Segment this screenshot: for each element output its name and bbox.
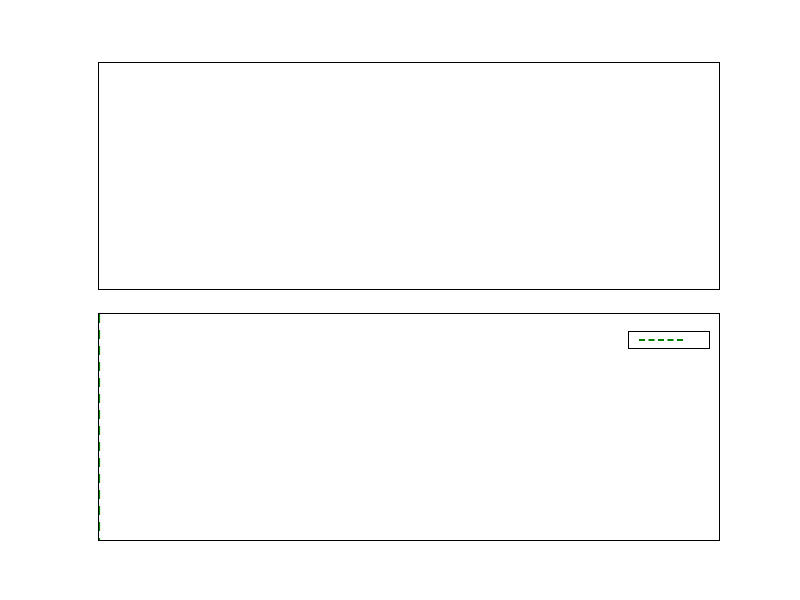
histogram-bars-area [99, 63, 719, 289]
cumulative-curve [99, 314, 719, 540]
legend[interactable] [628, 331, 710, 349]
cumulative-histogram-axes [98, 313, 720, 541]
cumulative-curve-area [99, 314, 719, 540]
differential-histogram-axes [98, 62, 720, 290]
mag-limit-legend-swatch [639, 339, 683, 341]
figure-canvas [0, 0, 800, 600]
